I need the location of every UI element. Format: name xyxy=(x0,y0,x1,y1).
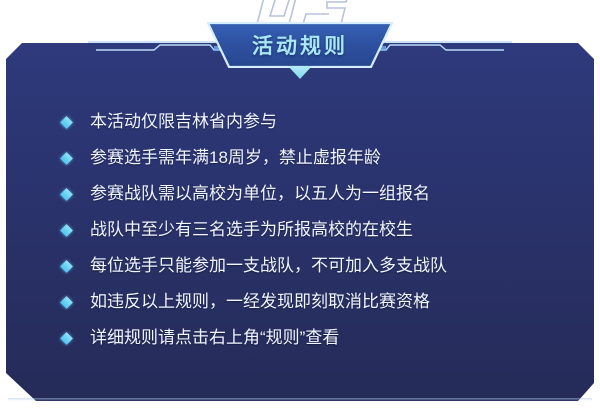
list-item: 参赛选手需年满18周岁，禁止虚报年龄 xyxy=(62,140,542,176)
rule-text: 本活动仅限吉林省内参与 xyxy=(90,112,277,132)
diamond-bullet-icon xyxy=(60,116,73,129)
diamond-bullet-icon xyxy=(60,332,73,345)
diamond-bullet-icon xyxy=(60,188,73,201)
rule-text: 每位选手只能参加一支战队，不可加入多支战队 xyxy=(90,256,447,276)
diamond-bullet-icon xyxy=(60,296,73,309)
rule-text: 如违反以上规则，一经发现即刻取消比赛资格 xyxy=(90,292,430,312)
rule-text: 参赛战队需以高校为单位，以五人为一组报名 xyxy=(90,184,430,204)
rules-list: 本活动仅限吉林省内参与 参赛选手需年满18周岁，禁止虚报年龄 参赛战队需以高校为… xyxy=(62,104,542,356)
rule-text: 参赛选手需年满18周岁，禁止虚报年龄 xyxy=(90,148,381,168)
list-item: 详细规则请点击右上角“规则”查看 xyxy=(62,320,542,356)
list-item: 参赛战队需以高校为单位，以五人为一组报名 xyxy=(62,176,542,212)
list-item: 每位选手只能参加一支战队，不可加入多支战队 xyxy=(62,248,542,284)
diamond-bullet-icon xyxy=(60,260,73,273)
section-banner: 活动规则 xyxy=(207,22,393,68)
diamond-bullet-icon xyxy=(60,224,73,237)
rule-text: 战队中至少有三名选手为所报高校的在校生 xyxy=(90,220,413,240)
list-item: 战队中至少有三名选手为所报高校的在校生 xyxy=(62,212,542,248)
list-item: 如违反以上规则，一经发现即刻取消比赛资格 xyxy=(62,284,542,320)
rule-text: 详细规则请点击右上角“规则”查看 xyxy=(90,328,339,348)
banner-title: 活动规则 xyxy=(207,22,393,68)
list-item: 本活动仅限吉林省内参与 xyxy=(62,104,542,140)
activity-rules-card: 活动规则 本活动仅限吉林省内参与 参赛选手需年满18周岁，禁止虚报年龄 参赛战队… xyxy=(0,0,600,412)
diamond-bullet-icon xyxy=(60,152,73,165)
